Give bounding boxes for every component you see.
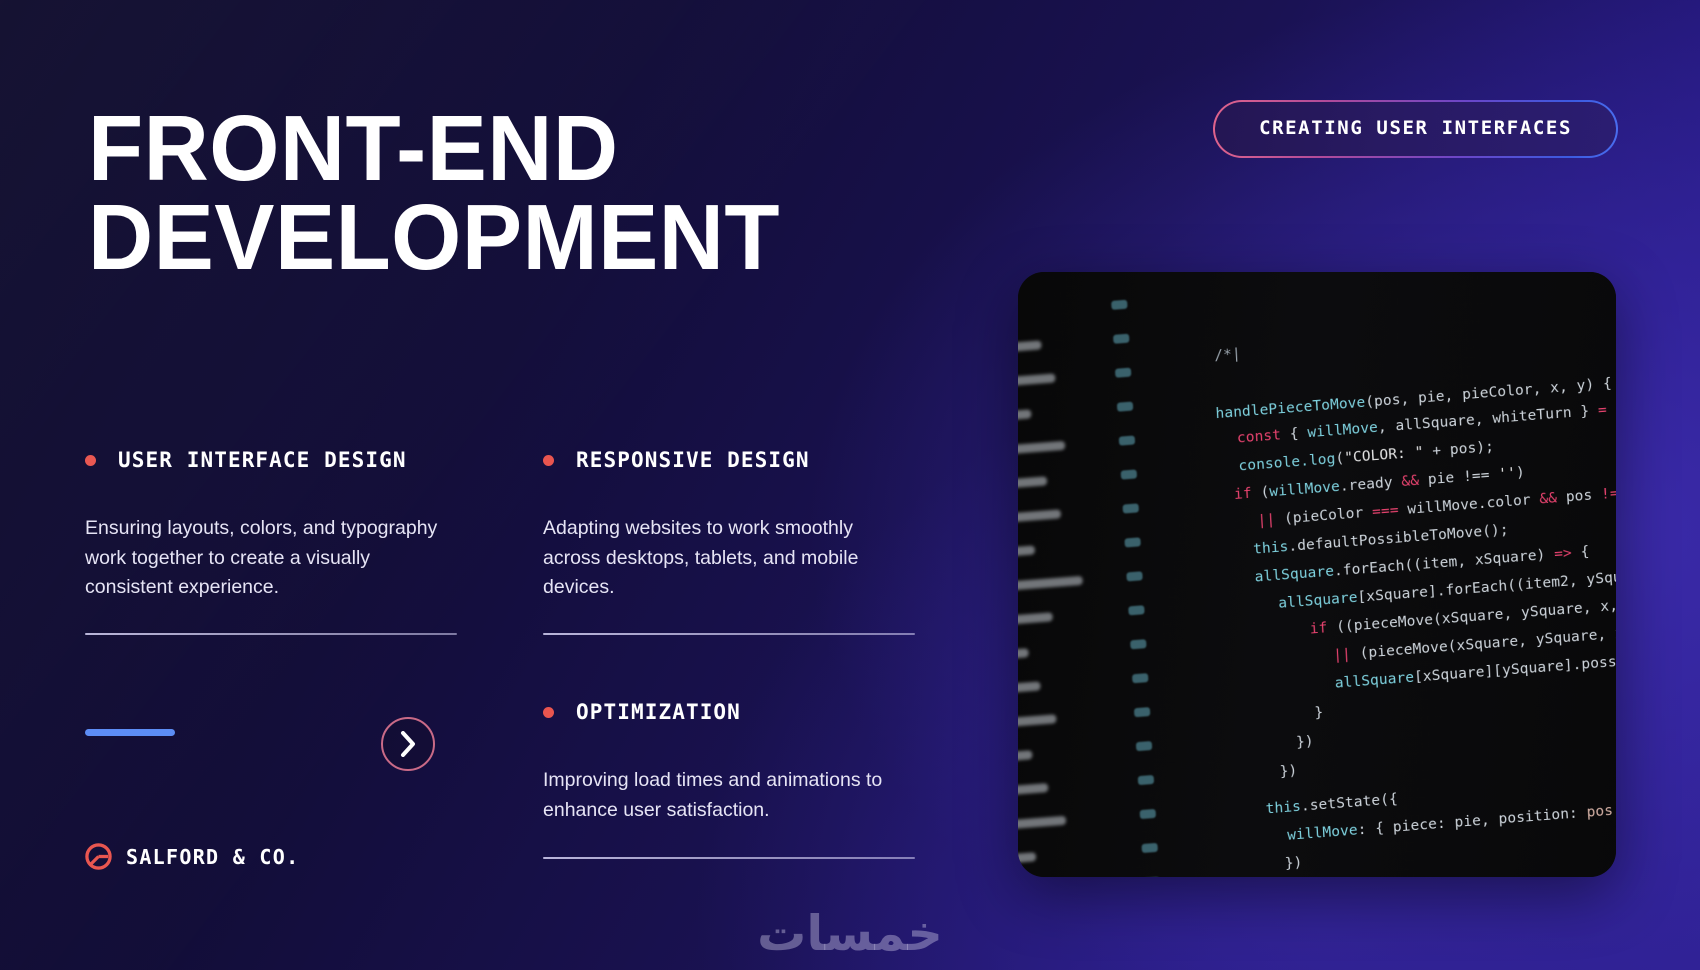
status-badge-label: CREATING USER INTERFACES <box>1215 102 1616 156</box>
page-title: FRONT-END DEVELOPMENT <box>88 104 942 283</box>
circle-g-logo-icon <box>85 843 112 870</box>
feature-title: USER INTERFACE DESIGN <box>118 448 407 472</box>
chevron-right-icon <box>400 731 417 757</box>
feature-header: RESPONSIVE DESIGN <box>543 448 915 472</box>
feature-header: USER INTERFACE DESIGN <box>85 448 457 472</box>
bullet-dot-icon <box>85 455 96 466</box>
divider <box>85 633 457 635</box>
feature-item-responsive-design: RESPONSIVE DESIGN Adapting websites to w… <box>543 448 915 635</box>
feature-item-optimization: OPTIMIZATION Improving load times and an… <box>543 700 915 859</box>
feature-title: OPTIMIZATION <box>576 700 741 724</box>
bullet-dot-icon <box>543 707 554 718</box>
next-slide-button[interactable] <box>381 717 435 771</box>
brand-logo: SALFORD & CO. <box>85 843 299 870</box>
slide-progress-indicator[interactable] <box>85 729 175 736</box>
feature-description: Adapting websites to work smoothly acros… <box>543 514 915 603</box>
editor-minimap <box>1018 272 1126 877</box>
watermark: خمسات <box>757 905 943 962</box>
presentation-slide: FRONT-END DEVELOPMENT CREATING USER INTE… <box>0 0 1700 970</box>
brand-name: SALFORD & CO. <box>126 845 299 869</box>
divider <box>543 633 915 635</box>
code-editor-surface: /*| handlePieceToMove(pos, pie, pieColor… <box>1018 272 1616 877</box>
feature-description: Improving load times and animations to e… <box>543 766 915 825</box>
divider <box>543 857 915 859</box>
status-badge: CREATING USER INTERFACES <box>1213 100 1618 158</box>
feature-description: Ensuring layouts, colors, and typography… <box>85 514 457 603</box>
code-screenshot-image: /*| handlePieceToMove(pos, pie, pieColor… <box>1018 272 1616 877</box>
feature-item-user-interface-design: USER INTERFACE DESIGN Ensuring layouts, … <box>85 448 457 635</box>
bullet-dot-icon <box>543 455 554 466</box>
feature-header: OPTIMIZATION <box>543 700 915 724</box>
feature-title: RESPONSIVE DESIGN <box>576 448 810 472</box>
